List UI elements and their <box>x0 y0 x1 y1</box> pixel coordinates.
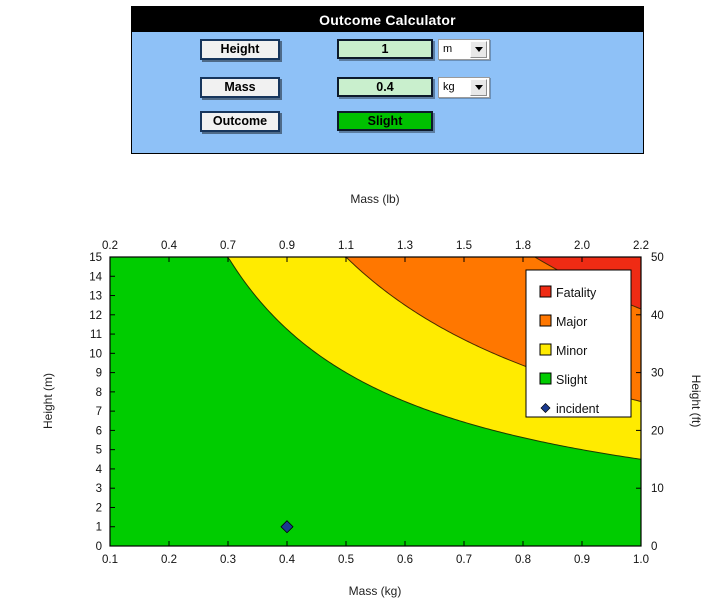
axis-tick-label: 0.7 <box>456 554 472 566</box>
axis-tick-label: 0.4 <box>161 240 178 252</box>
legend-label: Slight <box>556 373 588 387</box>
legend-swatch <box>540 286 551 297</box>
axis-tick-label: 8 <box>96 387 102 399</box>
legend-swatch <box>540 373 551 384</box>
axis-tick-label: 13 <box>89 291 102 303</box>
outcome-result-value: Slight <box>337 111 433 131</box>
axis-tick-label: 14 <box>89 271 102 283</box>
axis-tick-label: 20 <box>651 425 664 437</box>
legend-label: incident <box>556 402 600 416</box>
mass-unit-select[interactable]: kg <box>438 77 490 98</box>
height-unit-value: m <box>439 43 470 55</box>
x-axis-title-top: Mass (lb) <box>350 192 399 206</box>
axis-tick-label: 0.8 <box>515 554 531 566</box>
legend-label: Fatality <box>556 286 597 300</box>
axis-tick-label: 0.5 <box>338 554 354 566</box>
axis-tick-label: 0.2 <box>102 240 118 252</box>
mass-value-input[interactable]: 0.4 <box>337 77 433 97</box>
mass-label-button[interactable]: Mass <box>200 77 280 98</box>
chart-legend: FatalityMajorMinorSlightincident <box>526 270 631 417</box>
legend-label: Minor <box>556 344 587 358</box>
axis-tick-label: 2.0 <box>574 240 590 252</box>
calculator-body: Height 1 m Mass 0.4 kg Outcome Slight <box>132 32 643 153</box>
axis-tick-label: 0.6 <box>397 554 413 566</box>
axis-tick-label: 2.2 <box>633 240 649 252</box>
legend-label: Major <box>556 315 587 329</box>
axis-tick-label: 15 <box>89 252 102 264</box>
axis-tick-label: 1.3 <box>397 240 413 252</box>
axis-tick-label: 0.9 <box>279 240 295 252</box>
chevron-down-icon[interactable] <box>470 41 487 58</box>
axis-tick-label: 10 <box>89 348 102 360</box>
axis-tick-label: 3 <box>96 483 102 495</box>
legend-swatch <box>540 315 551 326</box>
height-unit-select[interactable]: m <box>438 39 490 60</box>
axis-tick-label: 0.7 <box>220 240 236 252</box>
axis-tick-label: 1.8 <box>515 240 531 252</box>
axis-tick-label: 30 <box>651 368 664 380</box>
y-axis-title-left: Height (m) <box>41 373 55 429</box>
height-value-input[interactable]: 1 <box>337 39 433 59</box>
legend-swatch <box>540 344 551 355</box>
x-axis-title-bottom: Mass (kg) <box>349 584 402 598</box>
axis-tick-label: 40 <box>651 310 664 322</box>
axis-tick-label: 1.5 <box>456 240 472 252</box>
y-axis-title-right: Height (ft) <box>689 375 703 428</box>
axis-tick-label: 5 <box>96 445 102 457</box>
axis-tick-label: 1 <box>96 522 102 534</box>
outcome-calculator-window: Outcome Calculator Height 1 m Mass 0.4 k… <box>131 6 644 154</box>
axis-tick-label: 0 <box>651 541 657 553</box>
axis-tick-label: 0.2 <box>161 554 177 566</box>
axis-tick-label: 4 <box>96 464 103 476</box>
window-title: Outcome Calculator <box>319 12 456 28</box>
axis-tick-label: 1.1 <box>338 240 354 252</box>
chevron-down-icon[interactable] <box>470 79 487 96</box>
axis-tick-label: 11 <box>90 329 102 341</box>
axis-tick-label: 12 <box>89 310 102 322</box>
axis-tick-label: 7 <box>96 406 102 418</box>
height-label-button[interactable]: Height <box>200 39 280 60</box>
outcome-label-button[interactable]: Outcome <box>200 111 280 132</box>
mass-unit-value: kg <box>439 81 470 93</box>
axis-tick-label: 0.4 <box>279 554 296 566</box>
axis-tick-label: 1.0 <box>633 554 649 566</box>
axis-tick-label: 0.9 <box>574 554 590 566</box>
window-titlebar: Outcome Calculator <box>132 7 643 32</box>
axis-tick-label: 2 <box>96 502 102 514</box>
outcome-contour-chart: 0.10.20.30.40.50.60.70.80.91.0 0.20.40.7… <box>0 160 706 604</box>
axis-tick-label: 9 <box>96 368 102 380</box>
axis-tick-label: 0 <box>96 541 102 553</box>
axis-tick-label: 50 <box>651 252 664 264</box>
axis-tick-label: 0.3 <box>220 554 236 566</box>
axis-tick-label: 6 <box>96 425 102 437</box>
axis-tick-label: 10 <box>651 483 664 495</box>
axis-tick-label: 0.1 <box>102 554 118 566</box>
